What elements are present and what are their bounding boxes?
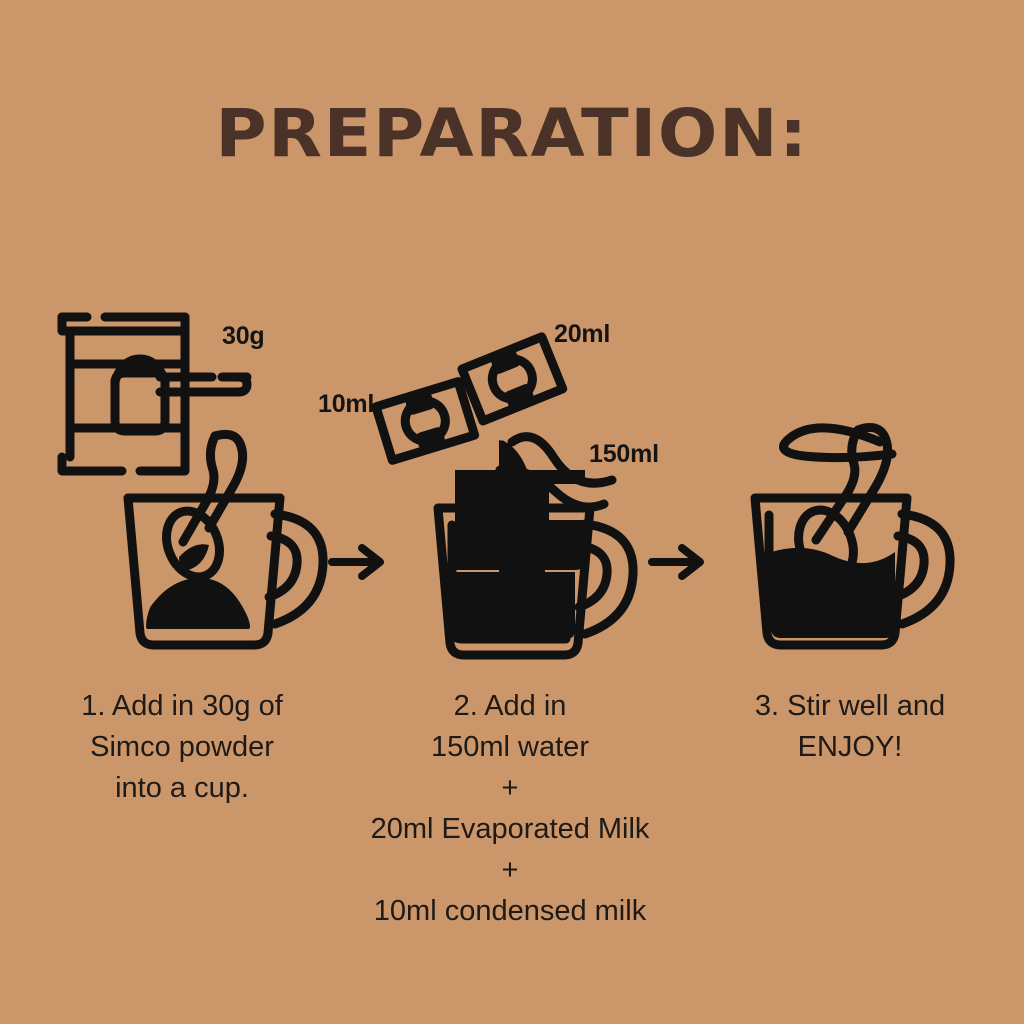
step2-mug-icon [438, 508, 633, 655]
step-1-caption: 1. Add in 30g of Simco powder into a cup… [22, 686, 342, 809]
step1-mug-icon [128, 434, 323, 645]
step3-mug-icon [755, 428, 950, 645]
label-condensed-milk-amount: 10ml [318, 390, 374, 419]
step3-liquid-fill [771, 548, 895, 638]
sachet-20ml-icon [462, 337, 563, 421]
step1-powder-heap [148, 580, 248, 627]
step2-mug-liquid [455, 572, 575, 639]
step-3-caption: 3. Stir well and ENJOY! [690, 686, 1010, 768]
label-powder-amount: 30g [222, 322, 264, 351]
step-2-caption-text: 2. Add in 150ml water + 20ml Evaporated … [300, 686, 720, 932]
step-3-caption-text: 3. Stir well and ENJOY! [690, 686, 1010, 768]
preparation-poster: PREPARATION: [0, 0, 1024, 1024]
sachet-10ml-icon [376, 382, 475, 461]
label-water-amount: 150ml [589, 440, 659, 469]
step1-spoon-powder [179, 544, 209, 570]
step2-pour-column [499, 440, 545, 572]
page-title: PREPARATION: [0, 95, 1024, 172]
powder-tin-icon [62, 317, 247, 471]
arrow-2-icon [652, 548, 700, 576]
step-2-caption: 2. Add in 150ml water + 20ml Evaporated … [300, 686, 720, 932]
label-evaporated-milk-amount: 20ml [554, 320, 610, 349]
step2-liquid-fill [455, 440, 585, 570]
step-1-caption-text: 1. Add in 30g of Simco powder into a cup… [22, 686, 342, 809]
arrow-1-icon [332, 548, 380, 576]
step-captions: 1. Add in 30g of Simco powder into a cup… [0, 686, 1024, 966]
